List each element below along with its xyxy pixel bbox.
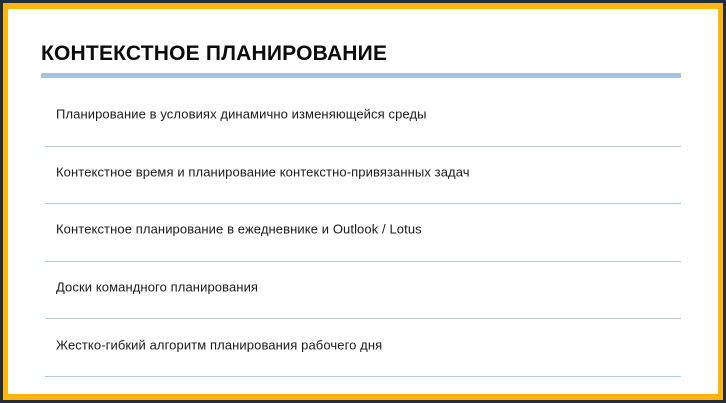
list-item: Жестко-гибкий алгоритм планирования рабо… [45,319,681,377]
list-item: Планирование в условиях динамично изменя… [45,89,681,147]
list-item: Контекстное время и планирование контекс… [45,147,681,205]
list-item-label: Планирование в условиях динамично изменя… [56,107,427,122]
list-item-label: Доски командного планирования [56,280,258,295]
title-accent-bar [41,73,681,78]
list-item: Контекстное планирование в ежедневнике и… [45,204,681,262]
list-item-label: Контекстное планирование в ежедневнике и… [56,222,422,237]
agenda-list: Планирование в условиях динамично изменя… [8,89,718,377]
slide-content: КОНТЕКСТНОЕ ПЛАНИРОВАНИЕ Планирование в … [8,9,718,394]
list-item-label: Контекстное время и планирование контекс… [56,164,470,179]
list-item-label: Жестко-гибкий алгоритм планирования рабо… [56,337,382,352]
page-title: КОНТЕКСТНОЕ ПЛАНИРОВАНИЕ [41,42,387,66]
list-item: Доски командного планирования [45,262,681,320]
slide-container: КОНТЕКСТНОЕ ПЛАНИРОВАНИЕ Планирование в … [0,0,726,403]
